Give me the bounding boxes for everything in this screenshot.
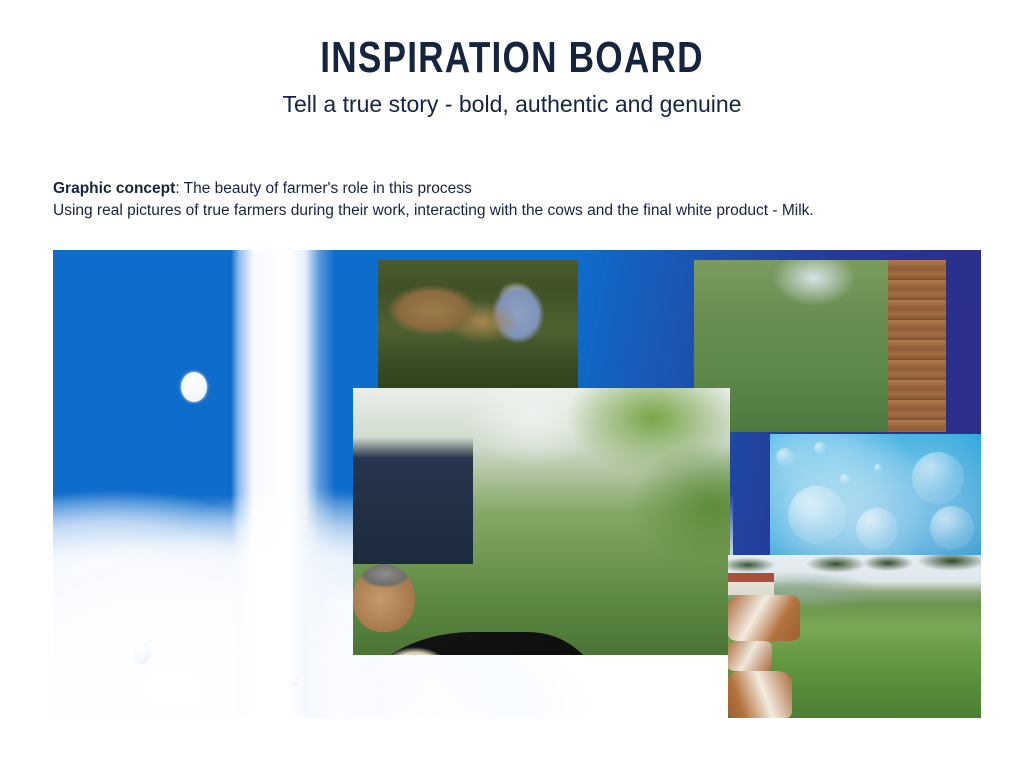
cow-figure	[728, 595, 800, 641]
graphic-concept-block: Graphic concept: The beauty of farmer's …	[53, 178, 814, 222]
bubble-icon	[912, 452, 964, 504]
concept-line-1: Graphic concept: The beauty of farmer's …	[53, 178, 814, 200]
milk-droplet-icon	[133, 642, 151, 664]
bubble-icon	[788, 486, 846, 544]
photo-scene	[378, 260, 578, 392]
photo-children-in-pasture	[728, 555, 981, 718]
bubble-icon	[776, 448, 794, 466]
cow-figure	[728, 641, 772, 671]
concept-line-2: Using real pictures of true farmers duri…	[53, 200, 814, 222]
barn-building	[728, 573, 774, 595]
photo-farmer-girl-and-cow	[353, 388, 730, 655]
photo-toddler-with-calf	[378, 260, 578, 392]
bubble-icon	[874, 464, 882, 472]
slide-header: INSPIRATION BOARD Tell a true story - bo…	[0, 0, 1024, 117]
bubble-icon	[856, 508, 898, 550]
concept-line-1-text: : The beauty of farmer's role in this pr…	[175, 180, 471, 197]
farmer-head	[353, 564, 415, 632]
cow-figure	[728, 671, 792, 718]
photo-boy-and-man-feeding-cow	[694, 260, 946, 432]
page-title: INSPIRATION BOARD	[102, 36, 921, 80]
concept-label: Graphic concept	[53, 180, 175, 197]
tree-line	[728, 555, 981, 573]
bubble-icon	[930, 506, 974, 550]
milk-droplet-icon	[181, 372, 207, 402]
bubble-icon	[814, 442, 826, 454]
milk-droplet-icon	[289, 674, 299, 686]
bubble-texture-panel	[770, 434, 981, 556]
inspiration-collage	[53, 250, 981, 718]
bubble-icon	[840, 474, 850, 484]
page-subtitle: Tell a true story - bold, authentic and …	[0, 92, 1024, 117]
farmer-figure	[353, 388, 473, 564]
